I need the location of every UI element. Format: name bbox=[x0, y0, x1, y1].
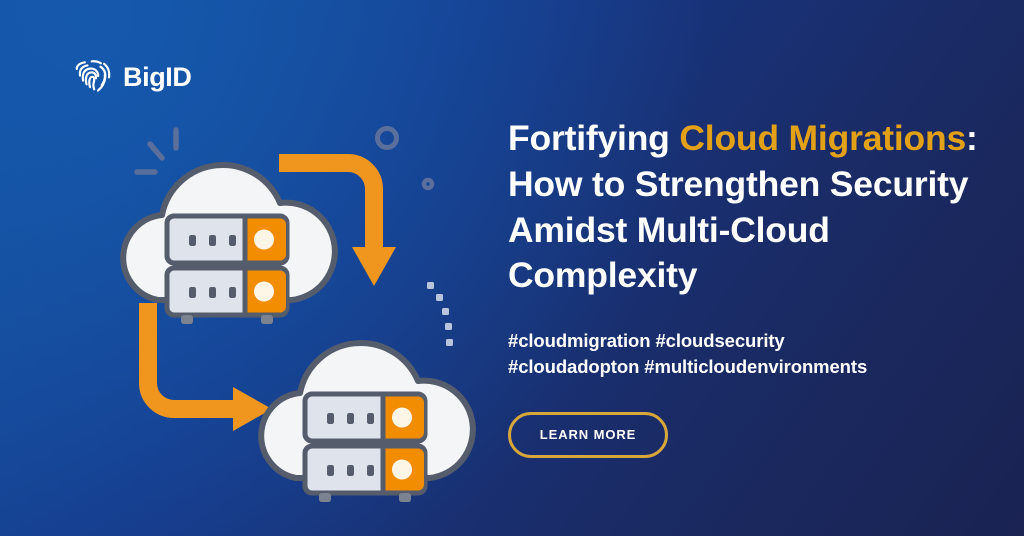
hashtag-line-2: #cloudadopton #multicloudenvironments bbox=[508, 354, 978, 380]
cloud-migration-illustration bbox=[80, 100, 490, 500]
brand-logo[interactable]: BigID bbox=[72, 56, 192, 98]
content-column: Fortifying Cloud Migrations: How to Stre… bbox=[508, 116, 978, 458]
dotted-arc-decor bbox=[427, 282, 453, 346]
source-cloud bbox=[123, 165, 335, 324]
hashtag-block: #cloudmigration #cloudsecurity #cloudado… bbox=[508, 328, 978, 381]
target-cloud bbox=[261, 343, 473, 502]
headline-accent: Cloud Migrations bbox=[679, 118, 966, 158]
fingerprint-shield-icon bbox=[72, 56, 114, 98]
arrow-right-icon bbox=[148, 312, 272, 431]
ring-decor bbox=[378, 129, 433, 189]
promotional-banner: BigID bbox=[0, 0, 1024, 536]
hashtag-line-1: #cloudmigration #cloudsecurity bbox=[508, 328, 978, 354]
headline-part-1: Fortifying bbox=[508, 118, 679, 158]
brand-name: BigID bbox=[123, 64, 192, 91]
sparkle-decor bbox=[137, 130, 176, 172]
learn-more-button[interactable]: LEARN MORE bbox=[508, 412, 668, 458]
page-title: Fortifying Cloud Migrations: How to Stre… bbox=[508, 116, 978, 299]
